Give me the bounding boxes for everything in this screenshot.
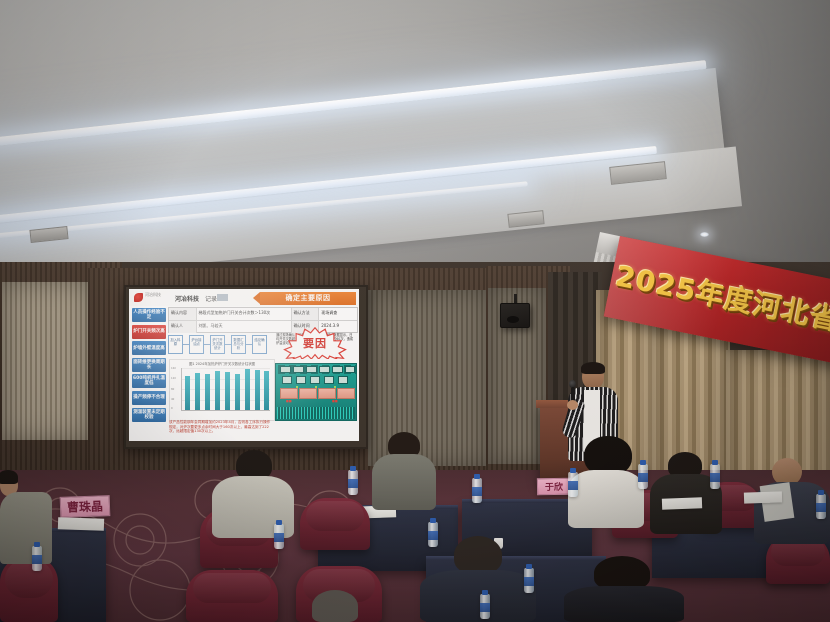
audience-7-hair: [454, 536, 502, 574]
burst-label: 要因: [303, 335, 327, 351]
cause-tag-3[interactable]: 面砖维更换周期长: [132, 358, 166, 372]
hmi-furnace-zone: [337, 388, 355, 399]
slide-title-ribbon: 确定主要原因: [260, 292, 356, 305]
chart-reference-line: [182, 376, 270, 377]
audience-member-4: [568, 436, 644, 528]
y-tick-label: 120: [171, 377, 176, 380]
flow-node-3: 数据汇总与分析: [231, 335, 246, 354]
y-tick-label: 40: [171, 398, 174, 401]
chart-bar: [264, 371, 269, 410]
presenter-hand: [567, 400, 578, 410]
y-tick-label: 80: [171, 388, 174, 391]
chart-bar: [205, 374, 210, 410]
page-label: 记录: [205, 294, 217, 303]
acoustic-slat-panel-left: [2, 282, 88, 440]
paper-4: [744, 491, 782, 503]
water-bottle-9: [710, 464, 720, 489]
hmi-alarm-label: ■■: [286, 399, 292, 403]
company-logo-icon: [134, 293, 143, 302]
chart-bar: [215, 371, 220, 410]
downlight-6: [700, 232, 709, 237]
cause-tag-0[interactable]: 人员操作经验不足: [132, 308, 166, 322]
audience-9-hair: [312, 590, 358, 622]
gridline: [182, 368, 270, 369]
audience-member-7: [420, 536, 536, 622]
audience-3-hair: [0, 470, 18, 484]
chart-bar: [185, 376, 190, 410]
audience-4-torso: [568, 470, 644, 528]
cell-value-0: 梯段式型加热炉门开关合计次数＞130次: [197, 308, 292, 320]
hmi-panel: [306, 366, 317, 373]
nameplate-right: 于欣: [537, 478, 571, 496]
audience-8-torso: [564, 586, 684, 622]
y-tick-label: 0: [171, 407, 173, 410]
audience-member-8: [564, 556, 684, 622]
water-bottle-6: [524, 568, 534, 593]
audience-8-hair: [594, 556, 650, 590]
paper-3: [662, 497, 702, 509]
cell-value2-0: 现场调查: [319, 308, 357, 320]
hmi-panel: [296, 376, 306, 384]
hmi-panel: [282, 376, 292, 384]
cell-key-0: 确认内容: [169, 308, 197, 320]
hmi-status-led: [296, 386, 298, 388]
water-bottle-11: [816, 494, 826, 519]
water-bottle-3: [348, 470, 358, 495]
audience-7-torso: [420, 570, 536, 622]
water-bottle-8: [638, 464, 648, 489]
hmi-screenshot: ■■ ■■: [275, 363, 357, 421]
chair-2: [300, 498, 370, 550]
hmi-furnace-zone: [318, 388, 336, 399]
presenter-hair: [581, 362, 605, 374]
audience-member-2: [372, 432, 436, 510]
flow-node-1: 炉台接油点: [189, 335, 204, 354]
cause-tag-1[interactable]: 炉门开关频次高: [132, 325, 166, 339]
conference-room-photo: 2025年度河北省冶金 河冶科技 河冶科技 记录 确定主要原因 人员操作经验不足…: [0, 0, 830, 622]
water-bottle-1: [32, 546, 42, 571]
chart-title: 图1 2024年加热炉炉门开关次数统计柱状图: [170, 361, 274, 366]
cause-tag-2[interactable]: 炉墙外壁温度高: [132, 341, 166, 355]
audience-3-torso: [0, 492, 52, 564]
cause-tag-4[interactable]: 600吨机件扎温度低: [132, 374, 166, 388]
water-bottle-7: [568, 472, 578, 497]
audience-2-torso: [372, 454, 436, 510]
projection-screen[interactable]: 河冶科技 河冶科技 记录 确定主要原因 人员操作经验不足 炉门开关频次高 炉墙外…: [129, 289, 359, 441]
chart-bar: [195, 373, 200, 410]
bar-chart: 图1 2024年加热炉炉门开关次数统计柱状图: [169, 359, 275, 421]
hmi-panel: [310, 376, 320, 384]
slide-body: 人员操作经验不足 炉门开关频次高 炉墙外壁温度高 面砖维更换周期长 600吨机件…: [129, 306, 359, 441]
cause-tag-6[interactable]: 测温装置未定期校验: [132, 408, 166, 422]
slide-content-area: 确认内容 梯段式型加热炉门开关合计次数＞130次 确认方法 现场调查 确认人 刘…: [168, 307, 356, 440]
hmi-bar-graph: [277, 407, 355, 419]
hmi-panel: [332, 366, 343, 373]
water-bottle-4: [428, 522, 438, 547]
cause-tag-5[interactable]: 操产频停不合理: [132, 391, 166, 405]
hmi-panel: [324, 376, 334, 384]
wall-speaker: [500, 303, 530, 328]
chart-plot-area: [181, 368, 270, 411]
hmi-furnace-zone: [280, 388, 298, 399]
nameplate-right-text: 于欣: [545, 480, 563, 493]
chart-bar: [235, 374, 240, 411]
hmi-alarm-label: ■■: [332, 399, 338, 403]
hmi-panel: [319, 366, 330, 373]
table-row: 确认内容 梯段式型加热炉门开关合计次数＞130次 确认方法 现场调查: [169, 308, 357, 321]
water-bottle-5: [472, 478, 482, 503]
key-factor-burst: 要因: [278, 327, 352, 359]
slide-header: 河冶科技 河冶科技 记录 确定主要原因: [129, 289, 359, 307]
burst-label-wrap: 要因: [278, 327, 352, 359]
hmi-panel: [280, 366, 291, 373]
cell-key2-0: 确认方法: [292, 308, 320, 320]
water-bottle-10: [480, 594, 490, 619]
y-tick-label: 160: [171, 367, 176, 370]
flow-node-4: 结论确认: [252, 335, 267, 354]
hmi-status-led: [315, 386, 317, 388]
paper-5: [58, 517, 104, 531]
hmi-panel: [293, 366, 304, 373]
chart-bar: [255, 370, 260, 410]
chart-note: 该产品性能钢年会同期增加约2023年4月，否则各工序执行操作规定，对炉次要更多点…: [169, 420, 273, 434]
nameplate-left: 曹珠晶: [60, 495, 111, 518]
flow-node-2: 炉门开关次数统计: [210, 335, 225, 354]
chair-3: [186, 570, 278, 622]
hmi-status-led: [334, 386, 336, 388]
logo-subtext: 河冶科技: [145, 293, 161, 298]
water-bottle-2: [274, 524, 284, 549]
cell-key-1: 确认人: [169, 321, 197, 333]
hmi-panel: [338, 376, 348, 384]
slide-title-text: 确定主要原因: [260, 292, 356, 305]
slide-cause-tag-column: 人员操作经验不足 炉门开关频次高 炉墙外壁温度高 面砖维更换周期长 600吨机件…: [132, 308, 166, 438]
hmi-panel: [345, 366, 355, 373]
audience-member-9: [292, 590, 378, 622]
page-indicator-box: [217, 294, 228, 301]
audience-member-3: [0, 470, 56, 566]
nameplate-left-text: 曹珠晶: [67, 497, 104, 515]
hmi-furnace-zone: [299, 388, 317, 399]
company-name: 河冶科技: [175, 294, 199, 303]
chart-bar: [225, 372, 230, 410]
flow-node-0: 加入料原: [168, 335, 183, 354]
